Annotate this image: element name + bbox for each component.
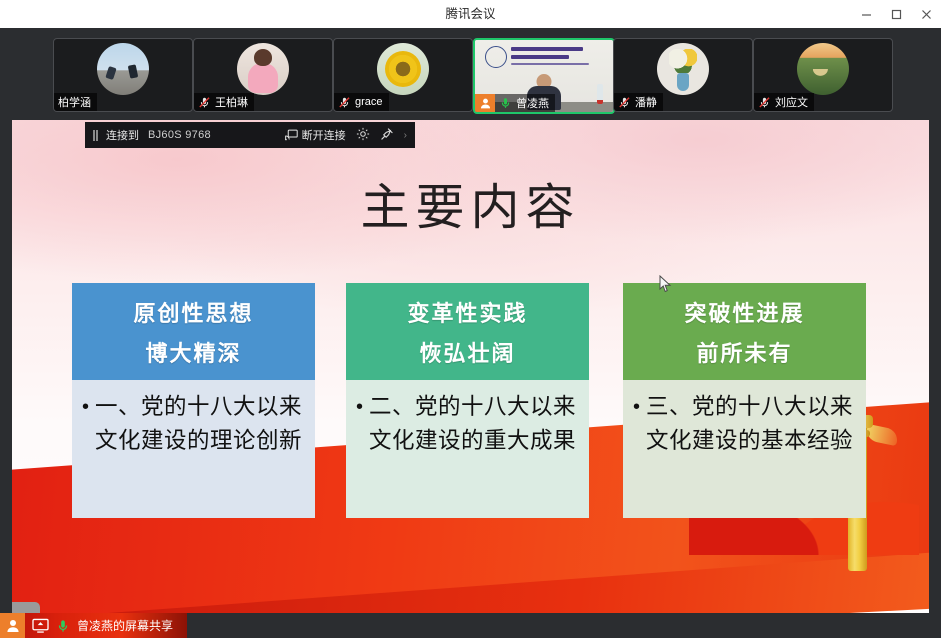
disconnect-button[interactable]: 断开连接 <box>285 127 346 143</box>
column-header: 原创性思想 博大精深 <box>72 283 315 380</box>
university-seal-icon <box>485 46 507 68</box>
avatar <box>797 43 849 95</box>
cast-toolbar[interactable]: 连接到 BJ60S 9768 断开连接 <box>85 122 415 148</box>
column-body-text: 一、党的十八大以来文化建设的理论创新 <box>95 390 307 518</box>
bottle <box>597 84 603 104</box>
column-body: • 二、党的十八大以来文化建设的重大成果 <box>346 380 589 518</box>
column-body: • 三、党的十八大以来文化建设的基本经验 <box>623 380 866 518</box>
slide-title: 主要内容 <box>12 168 929 239</box>
participant-name-bar: 潘静 <box>614 93 663 111</box>
mic-muted-icon <box>758 96 771 109</box>
participant-tile[interactable]: grace <box>333 38 473 112</box>
column-heading-line1: 原创性思想 <box>133 296 253 328</box>
avatar <box>237 43 289 95</box>
mic-muted-icon <box>618 96 631 109</box>
column-header: 变革性实践 恢弘壮阔 <box>346 283 589 380</box>
column-header: 突破性进展 前所未有 <box>623 283 866 380</box>
pin-button[interactable] <box>380 127 394 144</box>
minimize-button[interactable] <box>851 0 881 28</box>
mouse-pointer-icon <box>659 275 673 293</box>
participants-drawer-handle[interactable] <box>12 602 40 613</box>
title-bar: 腾讯会议 <box>0 0 941 29</box>
maximize-button[interactable] <box>881 0 911 28</box>
bullet-icon: • <box>633 390 640 518</box>
gear-icon <box>356 127 370 141</box>
bottom-bar: 曾凌燕的屏幕共享 <box>0 613 941 638</box>
expand-toolbar-button[interactable]: › <box>404 130 407 141</box>
participant-name: 柏学涵 <box>58 94 91 110</box>
participant-filmstrip: 柏学涵 王柏琳 <box>0 28 941 120</box>
settings-button[interactable] <box>356 127 370 144</box>
slide-column: 变革性实践 恢弘壮阔 • 二、党的十八大以来文化建设的重大成果 <box>346 283 589 518</box>
column-heading-line2: 博大精深 <box>145 336 241 368</box>
column-heading-line1: 变革性实践 <box>407 296 527 328</box>
slide-column: 原创性思想 博大精深 • 一、党的十八大以来文化建设的理论创新 <box>72 283 315 518</box>
bullet-icon: • <box>356 390 363 518</box>
participant-name-bar: 柏学涵 <box>54 93 97 111</box>
mic-muted-icon <box>338 96 351 109</box>
column-heading-line1: 突破性进展 <box>684 296 804 328</box>
screen-share-icon <box>32 618 49 633</box>
microphone-icon <box>56 618 70 634</box>
window-title: 腾讯会议 <box>0 0 941 28</box>
participant-tile[interactable]: 王柏琳 <box>193 38 333 112</box>
person-icon <box>0 613 25 638</box>
drag-handle[interactable] <box>93 130 95 141</box>
participant-name: 曾凌燕 <box>516 95 549 111</box>
column-body: • 一、党的十八大以来文化建设的理论创新 <box>72 380 315 518</box>
cast-device-id: BJ60S 9768 <box>148 129 211 141</box>
shared-screen: 主要内容 原创性思想 博大精深 • 一、党的十八大以来文化建设的理论创新 变革性… <box>12 120 929 613</box>
participant-name: grace <box>355 96 383 108</box>
mic-icon <box>499 96 512 110</box>
mic-muted-icon <box>198 96 211 109</box>
participant-tile-active[interactable]: 曾凌燕 <box>473 38 615 114</box>
participant-name-bar: 刘应文 <box>754 93 814 111</box>
close-button[interactable] <box>911 0 941 28</box>
participant-name: 王柏琳 <box>215 94 248 110</box>
tencent-meeting-window: 腾讯会议 柏学涵 <box>0 0 941 638</box>
university-banner <box>481 44 607 70</box>
avatar <box>377 43 429 95</box>
column-body-text: 三、党的十八大以来文化建设的基本经验 <box>646 390 858 518</box>
screen-share-status[interactable]: 曾凌燕的屏幕共享 <box>0 613 187 638</box>
participant-name-bar: grace <box>334 93 389 111</box>
participant-name: 潘静 <box>635 94 657 110</box>
participant-tile[interactable]: 柏学涵 <box>53 38 193 112</box>
participant-tile[interactable]: 刘应文 <box>753 38 893 112</box>
share-badge-icon <box>475 94 495 112</box>
participant-name: 刘应文 <box>775 94 808 110</box>
participant-name-bar: 曾凌燕 <box>475 94 555 112</box>
disconnect-label: 断开连接 <box>302 127 346 143</box>
column-body-text: 二、党的十八大以来文化建设的重大成果 <box>369 390 581 518</box>
column-heading-line2: 前所未有 <box>696 336 792 368</box>
share-status-text: 曾凌燕的屏幕共享 <box>77 617 173 634</box>
bullet-icon: • <box>82 390 89 518</box>
participant-name-bar: 王柏琳 <box>194 93 254 111</box>
slide-columns: 原创性思想 博大精深 • 一、党的十八大以来文化建设的理论创新 变革性实践 恢弘… <box>72 283 872 518</box>
cast-connected-label: 连接到 <box>106 127 139 143</box>
pin-icon <box>380 127 394 141</box>
avatar <box>97 43 149 95</box>
screen-cast-icon <box>285 129 298 141</box>
slide-column: 突破性进展 前所未有 • 三、党的十八大以来文化建设的基本经验 <box>623 283 866 518</box>
column-heading-line2: 恢弘壮阔 <box>419 336 515 368</box>
avatar <box>657 43 709 95</box>
participant-tile[interactable]: 潘静 <box>613 38 753 112</box>
